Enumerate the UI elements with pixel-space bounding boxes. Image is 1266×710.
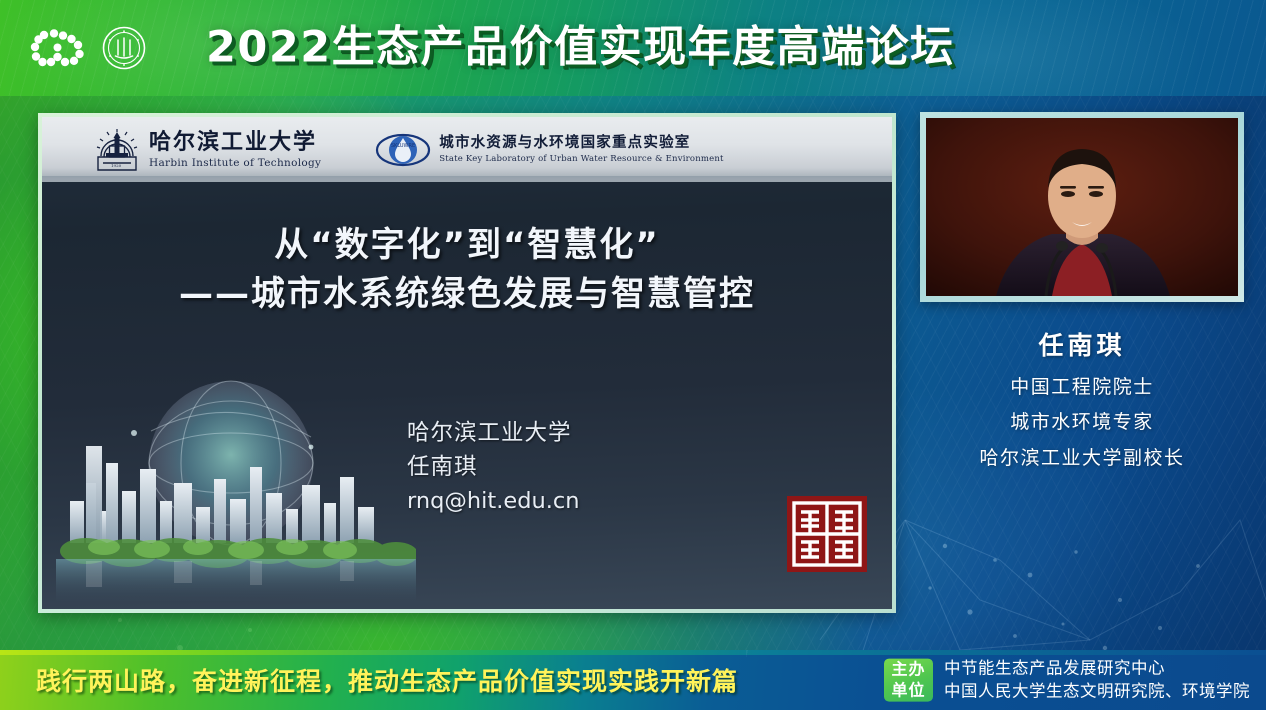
hit-name-cn: 哈尔滨工业大学	[149, 130, 321, 154]
slide-presenter-block: 哈尔滨工业大学 任南琪 rnq@hit.edu.cn	[407, 417, 580, 518]
skl-name-cn: 城市水资源与水环境国家重点实验室	[439, 135, 723, 152]
forum-dots-logo-icon	[30, 26, 86, 70]
slide-title-line1: 从“数字化”到“智慧化”	[274, 225, 659, 265]
bottom-banner: 践行两山路，奋进新征程，推动生态产品价值实现实践开新篇 主办 单位 中节能生态产…	[0, 650, 1266, 710]
slide-org-right: SKLUWRE 城市水资源与水环境国家重点实验室 State Key Labor…	[375, 130, 723, 170]
red-seal-stamp-icon	[784, 494, 870, 574]
speaker-video-frame[interactable]	[920, 112, 1244, 302]
university-seal-logo-icon	[102, 26, 146, 70]
presentation-slide: 1920 哈尔滨工业大学 Harbin Institute of Technol…	[42, 117, 892, 609]
hit-gear-logo-icon: 1920	[94, 126, 140, 174]
host-badge-line2: 单位	[891, 680, 925, 701]
hit-name-en: Harbin Institute of Technology	[149, 157, 321, 169]
header-logo-group	[30, 26, 146, 70]
host-name-2: 中国人民大学生态文明研究院、环境学院	[944, 680, 1250, 703]
city-skyline-artwork	[56, 351, 416, 601]
speaker-role-1: 中国工程院院士	[920, 370, 1244, 405]
forum-header-banner: 2022生态产品价值实现年度高端论坛	[0, 0, 1266, 96]
host-organizers-group: 主办 单位 中节能生态产品发展研究中心 中国人民大学生态文明研究院、环境学院	[884, 657, 1250, 704]
speaker-video-thumbnail	[926, 118, 1238, 296]
forum-slogan: 践行两山路，奋进新征程，推动生态产品价值实现实践开新篇	[36, 662, 738, 698]
forum-broadcast-screen: 2022生态产品价值实现年度高端论坛	[0, 0, 1266, 710]
slide-org-left: 1920 哈尔滨工业大学 Harbin Institute of Technol…	[94, 126, 321, 174]
skl-name-en: State Key Laboratory of Urban Water Reso…	[439, 154, 723, 164]
skl-waterdrop-logo-icon: SKLUWRE	[375, 130, 431, 170]
speaker-roles: 中国工程院院士 城市水环境专家 哈尔滨工业大学副校长	[920, 370, 1244, 476]
host-badge-line1: 主办	[891, 659, 925, 680]
presentation-slide-panel[interactable]: 1920 哈尔滨工业大学 Harbin Institute of Technol…	[38, 113, 896, 613]
hit-name-block: 哈尔滨工业大学 Harbin Institute of Technology	[149, 130, 321, 168]
slide-org-bar: 1920 哈尔滨工业大学 Harbin Institute of Technol…	[42, 117, 892, 182]
slide-title-line2: ——城市水系统绿色发展与智慧管控	[42, 270, 892, 319]
slide-presenter-name: 任南琪	[407, 451, 580, 485]
skl-name-block: 城市水资源与水环境国家重点实验室 State Key Laboratory of…	[439, 135, 723, 165]
speaker-role-2: 城市水环境专家	[920, 405, 1244, 440]
host-badge: 主办 单位	[884, 659, 933, 702]
svg-text:SKLUWRE: SKLUWRE	[391, 143, 415, 149]
forum-title: 2022生态产品价值实现年度高端论坛	[206, 27, 955, 70]
svg-text:1920: 1920	[111, 163, 122, 168]
speaker-role-3: 哈尔滨工业大学副校长	[920, 441, 1244, 476]
speaker-name: 任南琪	[920, 326, 1244, 362]
host-name-1: 中节能生态产品发展研究中心	[944, 657, 1250, 680]
slide-title: 从“数字化”到“智慧化” ——城市水系统绿色发展与智慧管控	[42, 221, 892, 320]
host-names: 中节能生态产品发展研究中心 中国人民大学生态文明研究院、环境学院	[944, 657, 1250, 704]
slide-presenter-email: rnq@hit.edu.cn	[407, 485, 580, 519]
slide-presenter-affiliation: 哈尔滨工业大学	[407, 417, 580, 451]
